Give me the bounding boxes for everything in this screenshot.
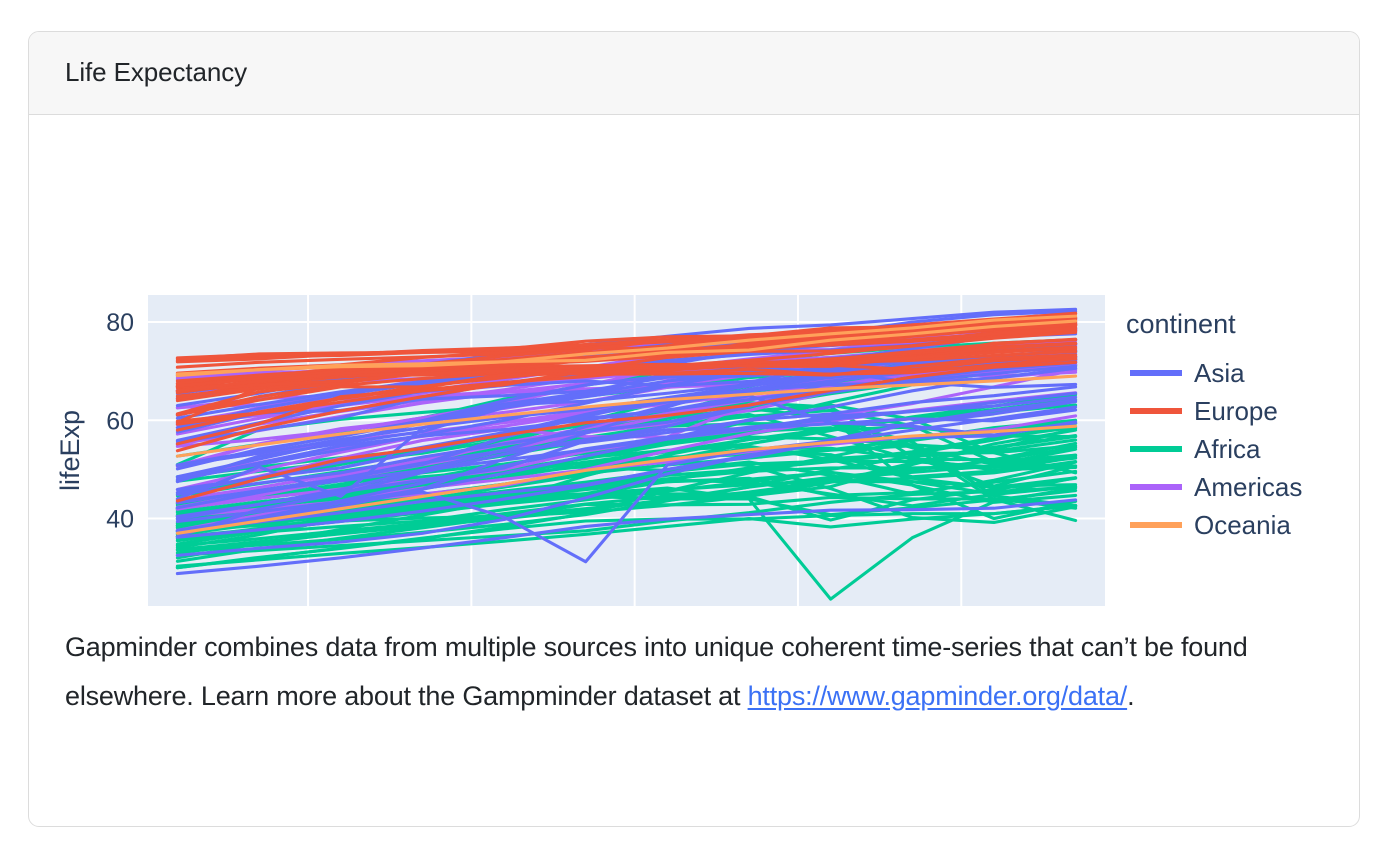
legend-label[interactable]: Americas [1194,472,1302,502]
life-expectancy-chart[interactable]: 40608019601970198019902000yearlifeExpcon… [29,115,1359,615]
chart-svg: 40608019601970198019902000yearlifeExpcon… [29,115,1359,615]
life-expectancy-card: Life Expectancy 406080196019701980199020… [28,31,1360,827]
legend-label[interactable]: Asia [1194,358,1245,388]
y-tick-label: 40 [106,506,134,534]
legend-title: continent [1126,309,1236,339]
legend-label[interactable]: Africa [1194,434,1261,464]
gapminder-data-link[interactable]: https://www.gapminder.org/data/ [748,681,1128,711]
legend-label[interactable]: Europe [1194,396,1278,426]
y-tick-label: 60 [106,407,134,435]
card-body: 40608019601970198019902000yearlifeExpcon… [29,115,1359,721]
card-header: Life Expectancy [29,32,1359,115]
y-axis-title: lifeExp [55,410,85,491]
legend-label[interactable]: Oceania [1194,510,1291,540]
y-tick-label: 80 [106,309,134,337]
chart-caption: Gapminder combines data from multiple so… [29,615,1359,721]
caption-text-after-link: . [1127,681,1134,711]
page-title: Life Expectancy [65,57,247,88]
